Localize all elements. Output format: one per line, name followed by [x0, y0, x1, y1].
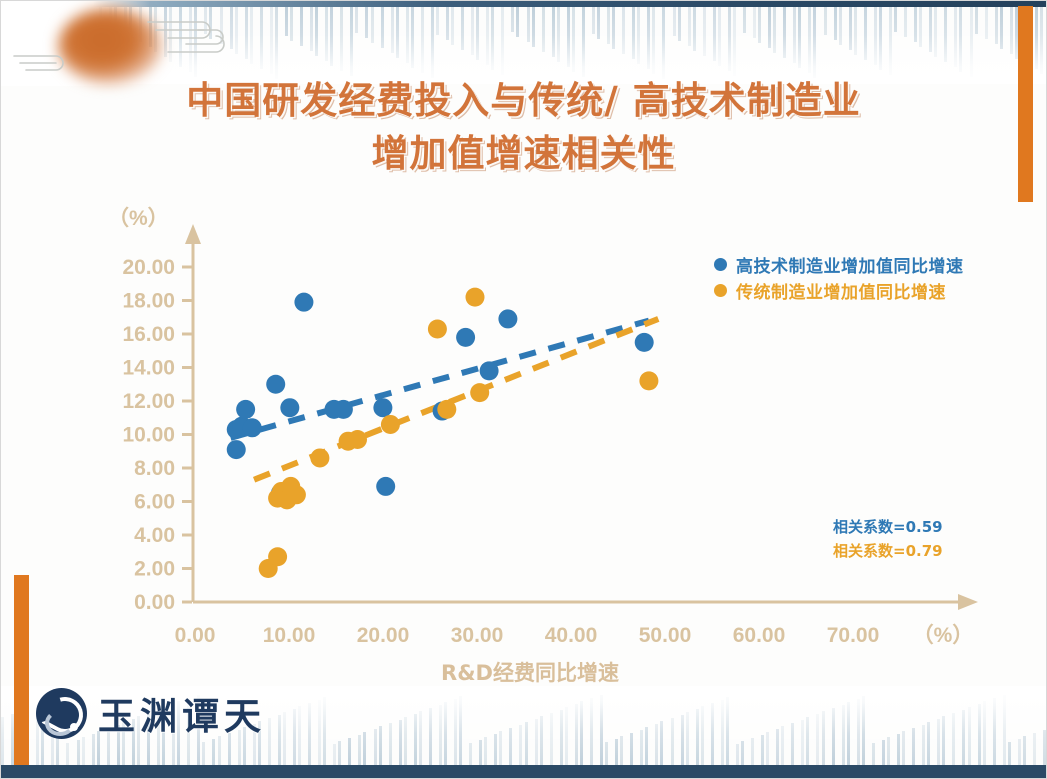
data-point: [236, 400, 255, 419]
y-axis-unit: （%）: [108, 206, 169, 230]
x-tick-label: 20.00: [357, 624, 410, 647]
x-tick-label: 70.00: [827, 624, 880, 647]
data-point: [437, 400, 456, 419]
data-point: [266, 375, 285, 394]
legend-item-1: 传统制造业增加值同比增速: [714, 277, 964, 303]
x-tick-label: 60.00: [733, 624, 786, 647]
y-tick-label: 14.00: [122, 357, 175, 380]
chart-data-points: [227, 288, 659, 578]
data-point: [376, 477, 395, 496]
data-point: [456, 328, 475, 347]
data-point: [635, 333, 654, 352]
legend-swatch-icon: [714, 284, 727, 297]
correlation-text-0: 相关系数=0.59: [833, 515, 943, 539]
y-tick-label: 12.00: [122, 390, 175, 413]
x-tick-label: 50.00: [639, 624, 692, 647]
data-point: [498, 309, 517, 328]
legend-item-0: 高技术制造业增加值同比增速: [714, 251, 964, 277]
data-point: [268, 547, 287, 566]
data-point: [348, 430, 367, 449]
data-point: [294, 293, 313, 312]
page-title: 中国研发经费投入与传统/ 高技术制造业 增加值增速相关性: [0, 74, 1047, 180]
page-title-line-1: 中国研发经费投入与传统/ 高技术制造业: [0, 74, 1047, 127]
wave-emblem-icon: [36, 688, 87, 739]
data-point: [373, 398, 392, 417]
data-point: [428, 319, 447, 338]
data-point: [470, 383, 489, 402]
legend-label: 传统制造业增加值同比增速: [736, 278, 946, 303]
y-tick-label: 20.00: [122, 256, 175, 279]
y-tick-label: 2.00: [134, 558, 175, 581]
data-point: [381, 415, 400, 434]
y-tick-label: 8.00: [134, 457, 175, 480]
data-point: [639, 371, 658, 390]
legend-label: 高技术制造业增加值同比增速: [736, 252, 964, 277]
y-tick-label: 4.00: [134, 524, 175, 547]
y-tick-label: 6.00: [134, 491, 175, 514]
y-tick-label: 0.00: [134, 591, 175, 614]
x-axis-unit: （%）: [913, 623, 974, 647]
x-tick-label: 10.00: [263, 624, 316, 647]
y-tick-label: 16.00: [122, 323, 175, 346]
data-point: [334, 400, 353, 419]
data-point: [227, 440, 246, 459]
y-tick-label: 10.00: [122, 424, 175, 447]
data-point: [310, 448, 329, 467]
data-point: [287, 485, 306, 504]
brand-logo: 玉渊谭天: [36, 686, 266, 740]
data-point: [280, 398, 299, 417]
page-title-line-2: 增加值增速相关性: [0, 127, 1047, 180]
data-point: [243, 418, 262, 437]
correlation-text-1: 相关系数=0.79: [833, 539, 943, 563]
y-axis-arrow: [185, 224, 201, 244]
trendline: [231, 321, 649, 438]
x-tick-label: 30.00: [451, 624, 504, 647]
x-axis-arrow: [958, 594, 978, 610]
y-tick-label: 18.00: [122, 290, 175, 313]
slide-root: 中国研发经费投入与传统/ 高技术制造业 增加值增速相关性 0.002.004.0…: [0, 0, 1047, 779]
chart-trendlines: [231, 319, 659, 480]
legend-swatch-icon: [714, 258, 727, 271]
data-point: [480, 361, 499, 380]
x-axis-title: R&D经费同比增速: [441, 661, 619, 685]
x-tick-label: 40.00: [545, 624, 598, 647]
brand-logo-text: 玉渊谭天: [98, 686, 266, 740]
x-tick-label: 0.00: [175, 624, 216, 647]
data-point: [466, 288, 485, 307]
chart-legend: 高技术制造业增加值同比增速传统制造业增加值同比增速: [714, 251, 964, 303]
correlation-annotations: 相关系数=0.59相关系数=0.79: [833, 515, 943, 563]
